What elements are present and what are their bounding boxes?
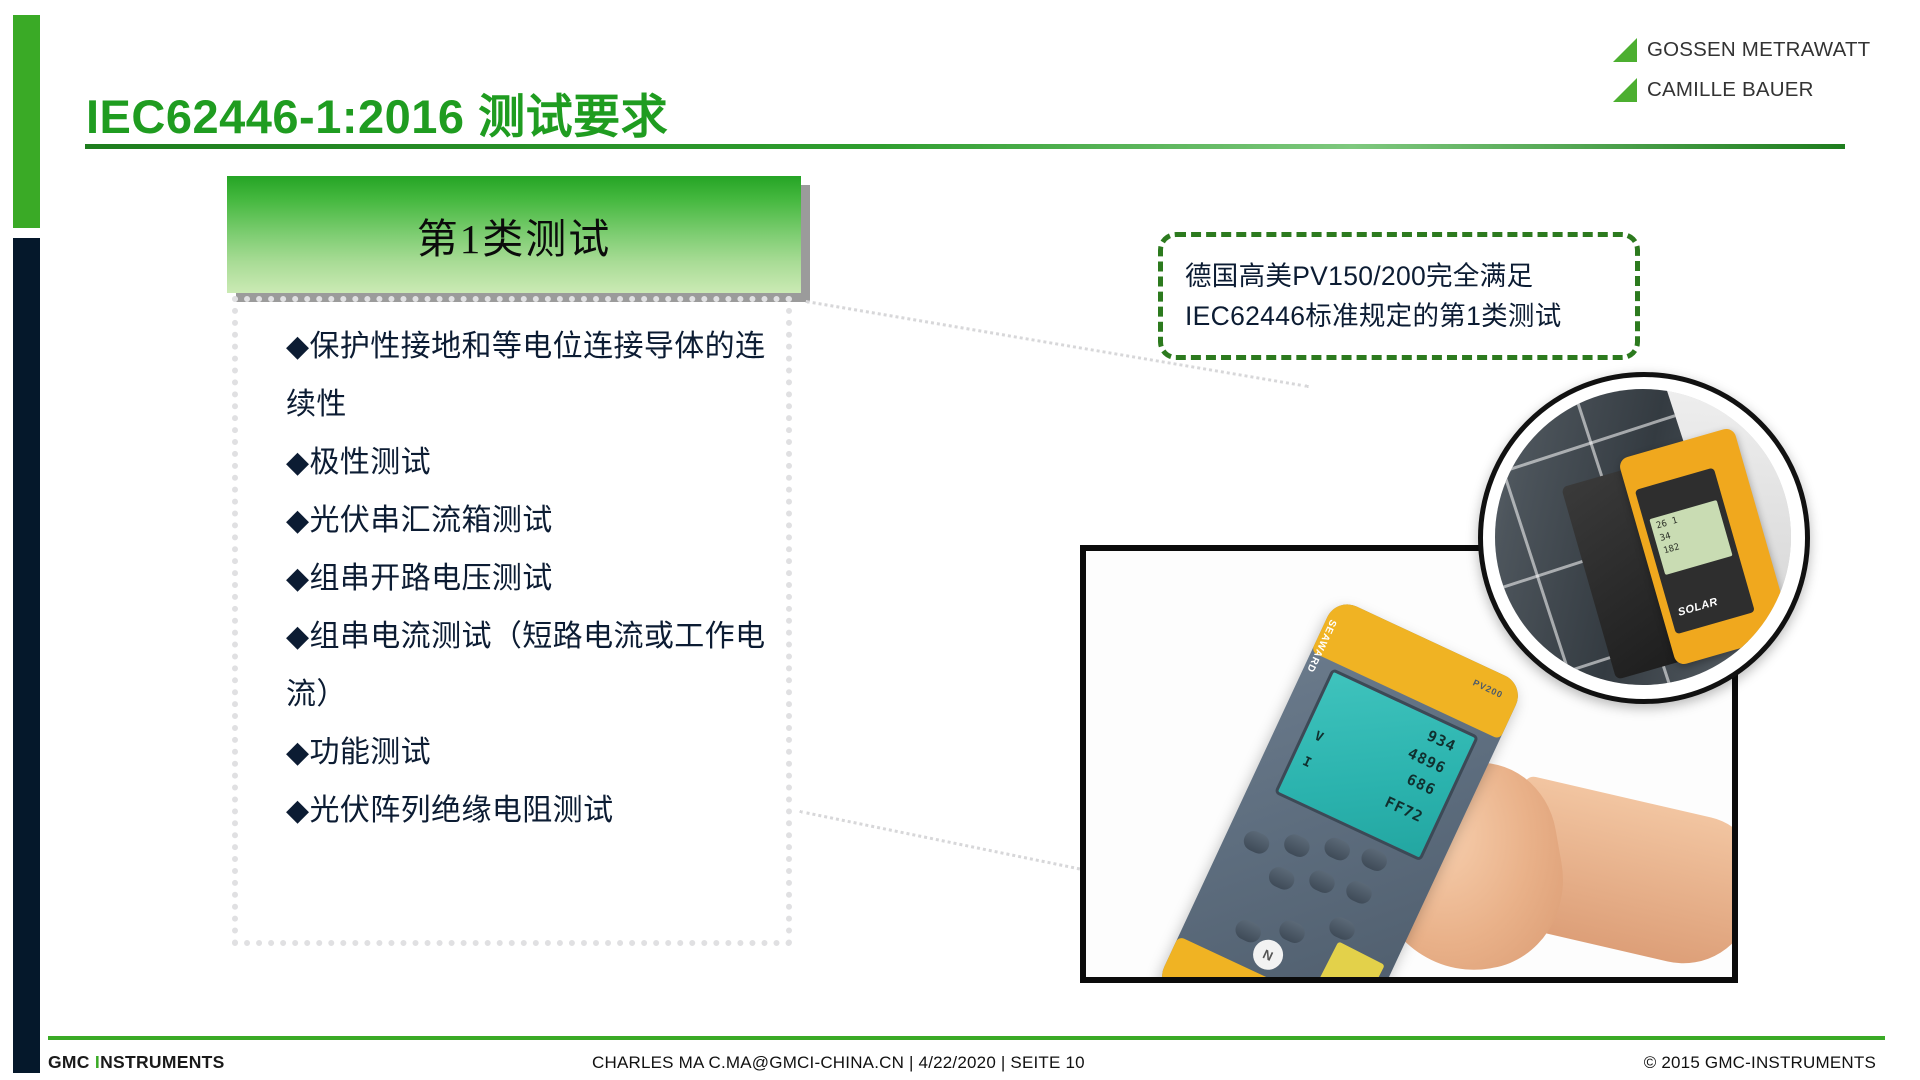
inset-photo-circle: 26 1 34 182 SOLAR xyxy=(1478,372,1810,704)
list-item: ◆光伏阵列绝缘电阻测试 xyxy=(286,782,791,840)
bullet-list: ◆保护性接地和等电位连接导体的连续性 ◆极性测试 ◆光伏串汇流箱测试 ◆组串开路… xyxy=(286,318,791,840)
keypad-button[interactable] xyxy=(1321,834,1353,863)
list-item: ◆功能测试 xyxy=(286,724,791,782)
keypad-button[interactable] xyxy=(1276,917,1308,946)
solar-brand-label: SOLAR xyxy=(1677,596,1720,619)
green-triangle-icon xyxy=(1610,75,1640,105)
category-heading-box: 第1类测试 xyxy=(227,176,801,293)
logo-text-gossen: GOSSEN METRAWATT xyxy=(1647,38,1870,62)
footer-brand-prefix: GMC xyxy=(48,1052,95,1072)
lcd-row-3: 686 xyxy=(1404,770,1439,799)
keypad-button[interactable] xyxy=(1241,828,1273,857)
keypad-button[interactable] xyxy=(1281,831,1313,860)
keypad-button[interactable] xyxy=(1266,864,1298,893)
left-edge-green-bar xyxy=(13,15,40,228)
left-edge-navy-bar xyxy=(13,238,40,1073)
lcd-label-i: I xyxy=(1300,754,1313,771)
list-item: ◆组串开路电压测试 xyxy=(286,550,791,608)
category-heading-text: 第1类测试 xyxy=(417,205,612,265)
footer-rule xyxy=(48,1036,1885,1040)
list-item: ◆保护性接地和等电位连接导体的连续性 xyxy=(286,318,791,434)
logo-row-camille: CAMILLE BAUER xyxy=(1610,70,1878,110)
logo-row-gossen: GOSSEN METRAWATT xyxy=(1610,30,1878,70)
callout-line-2: IEC62446标准规定的第1类测试 xyxy=(1185,296,1635,336)
callout-line-1: 德国高美PV150/200完全满足 xyxy=(1185,256,1635,296)
lcd-row-4: FF72 xyxy=(1382,793,1426,826)
title-underline-rule xyxy=(85,144,1845,149)
green-triangle-icon xyxy=(1610,35,1640,65)
footer-brand: GMC INSTRUMENTS xyxy=(48,1052,225,1073)
keypad-button[interactable] xyxy=(1343,878,1375,907)
list-item: ◆光伏串汇流箱测试 xyxy=(286,492,791,550)
leader-line-to-photo xyxy=(799,810,1103,875)
slide-root: IEC62446-1:2016 测试要求 GOSSEN METRAWATT CA… xyxy=(0,0,1920,1080)
callout-box: 德国高美PV150/200完全满足 IEC62446标准规定的第1类测试 xyxy=(1158,232,1640,360)
footer-brand-suffix: NSTRUMENTS xyxy=(100,1052,225,1072)
footer-copyright: © 2015 GMC-INSTRUMENTS xyxy=(1644,1053,1876,1073)
keypad-button[interactable] xyxy=(1326,914,1358,943)
keypad-button[interactable] xyxy=(1358,845,1390,874)
list-item: ◆极性测试 xyxy=(286,434,791,492)
keypad-button[interactable] xyxy=(1306,867,1338,896)
page-title: IEC62446-1:2016 测试要求 xyxy=(86,78,668,147)
list-item: ◆组串电流测试（短路电流或工作电流） xyxy=(286,608,791,724)
footer-meta: CHARLES MA C.MA@GMCI-CHINA.CN | 4/22/202… xyxy=(592,1053,1085,1073)
lcd-label-v: V xyxy=(1312,729,1325,746)
inset-photo-image: 26 1 34 182 SOLAR xyxy=(1495,389,1791,685)
company-logo: GOSSEN METRAWATT CAMILLE BAUER xyxy=(1610,30,1878,110)
logo-text-camille: CAMILLE BAUER xyxy=(1647,78,1814,102)
pv150-lcd-display: 26 1 34 182 xyxy=(1649,500,1732,575)
